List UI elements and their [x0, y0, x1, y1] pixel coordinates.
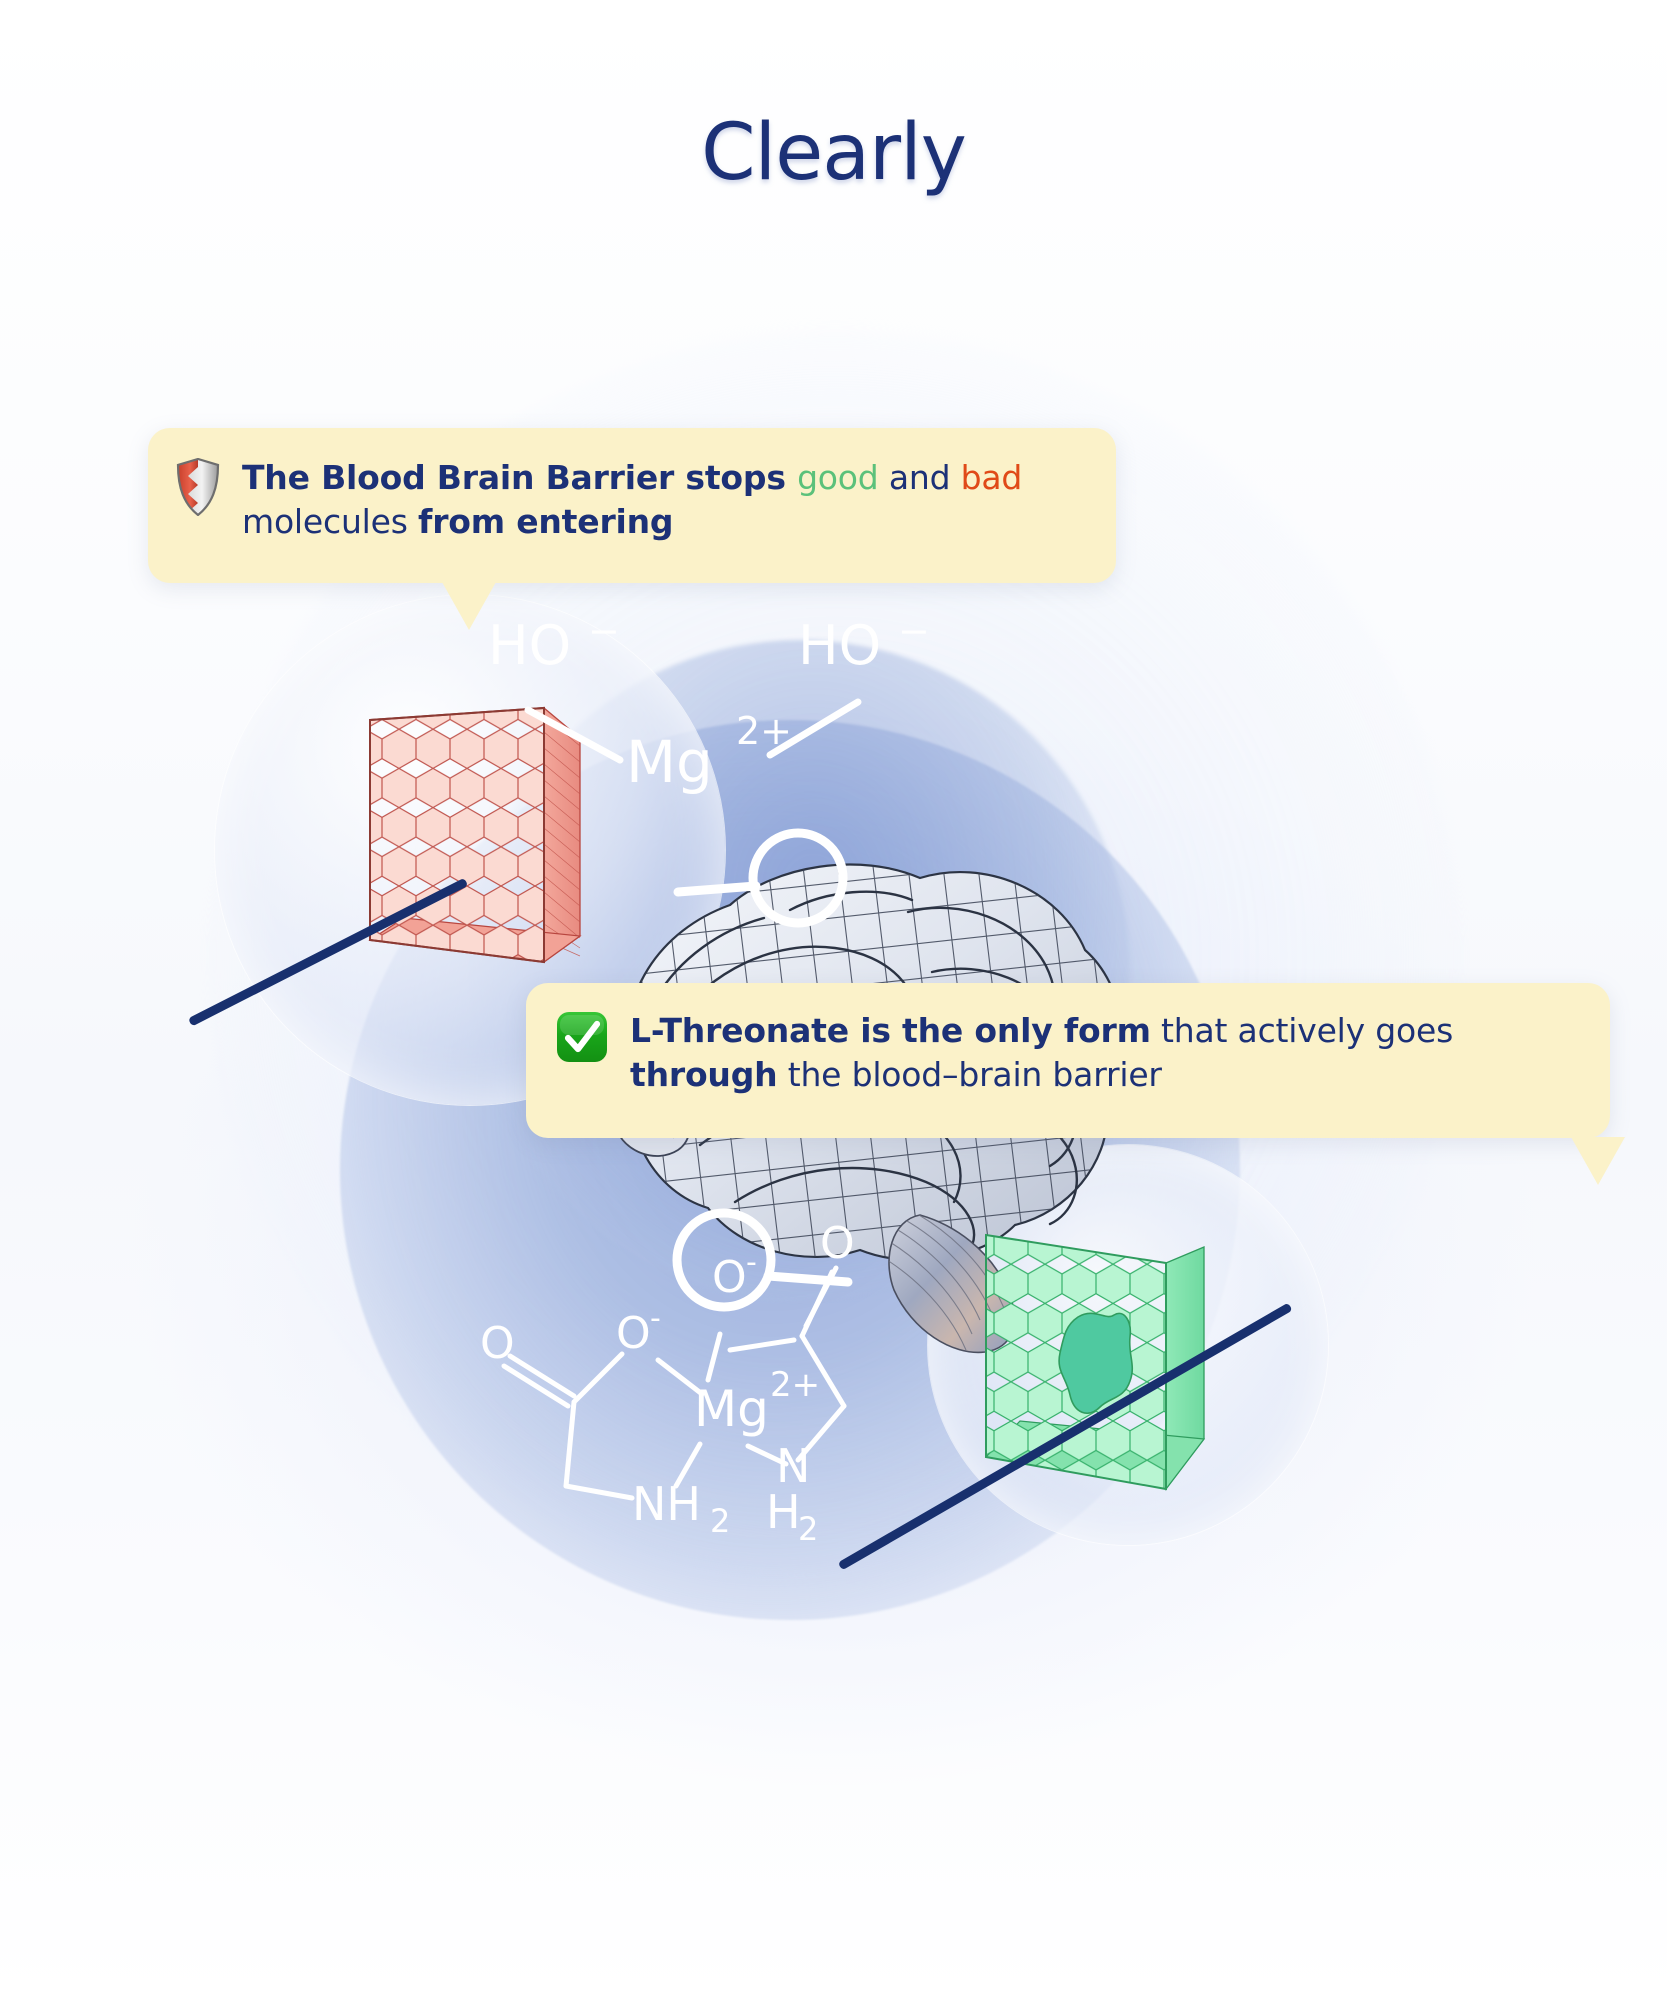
hydroxide-right-charge: − — [898, 609, 930, 653]
magnesium-bisglycinate-structure: O O - O - O Mg 2+ NH 2 N H 2 — [480, 1230, 1100, 1630]
shield-icon — [176, 458, 220, 516]
oxy-mid: O — [712, 1252, 747, 1303]
callout-text-blood-brain-barrier: The Blood Brain Barrier stops good and b… — [242, 456, 1082, 544]
magnifier-circle-bottom — [560, 1120, 1180, 1520]
callout-tail — [442, 582, 496, 630]
hydroxide-left-charge: − — [588, 609, 620, 653]
callout-segment: the blood–brain barrier — [777, 1055, 1161, 1094]
background-core-glow-inner — [470, 640, 1130, 1300]
amine-right-n: N — [776, 1439, 810, 1493]
oxy-mid-charge: - — [746, 1245, 757, 1280]
callout-l-threonate: L-Threonate is the only form that active… — [526, 983, 1610, 1138]
background-core-glow — [340, 720, 1240, 1620]
barrier-panel-permeable — [960, 1225, 1230, 1525]
callout-segment: L-Threonate is the only form — [630, 1011, 1151, 1050]
callout-text-l-threonate: L-Threonate is the only form that active… — [630, 1009, 1576, 1097]
amine-right-h: H — [766, 1485, 801, 1539]
infographic-canvas: Clearly — [0, 0, 1667, 2000]
callout-segment: The Blood Brain Barrier stops — [242, 458, 797, 497]
amine-left-label: NH — [632, 1477, 701, 1531]
carbonyl-o-left: O — [480, 1318, 515, 1369]
callout-segment: molecules — [242, 502, 418, 541]
callout-tail — [1571, 1137, 1625, 1185]
amine-right-subscript: 2 — [798, 1510, 818, 1548]
bubble-sphere-right — [928, 1145, 1328, 1545]
permeable-trajectory-line — [838, 1303, 1293, 1571]
brand-logo: Clearly — [0, 108, 1667, 198]
magnesium-label: Mg — [626, 728, 713, 796]
callout-segment: that actively goes — [1151, 1011, 1453, 1050]
hydroxide-left-label: HO — [488, 614, 571, 677]
check-mark-icon — [556, 1011, 608, 1063]
callout-blood-brain-barrier: The Blood Brain Barrier stops good and b… — [148, 428, 1116, 583]
magnesium-center-charge: 2+ — [770, 1365, 820, 1405]
magnesium-center-label: Mg — [694, 1380, 769, 1438]
amine-left-subscript: 2 — [710, 1502, 730, 1540]
callout-segment: through — [630, 1055, 777, 1094]
callout-segment-bad: bad — [961, 458, 1023, 497]
brand-logo-text: Clearly — [701, 108, 966, 198]
oxy-left: O — [616, 1308, 651, 1359]
callout-segment: and — [879, 458, 961, 497]
callout-segment-good: good — [797, 458, 878, 497]
carbonyl-o-right: O — [820, 1218, 855, 1269]
magnesium-hydroxide-structure: HO − HO − Mg 2+ — [480, 600, 1100, 940]
magnesium-charge: 2+ — [736, 709, 792, 753]
blocked-trajectory-line — [188, 878, 468, 1027]
callout-segment: from entering — [418, 502, 673, 541]
hydroxide-right-label: HO — [798, 614, 881, 677]
barrier-panel-blocked — [348, 690, 608, 980]
oxy-left-charge: - — [650, 1301, 661, 1336]
